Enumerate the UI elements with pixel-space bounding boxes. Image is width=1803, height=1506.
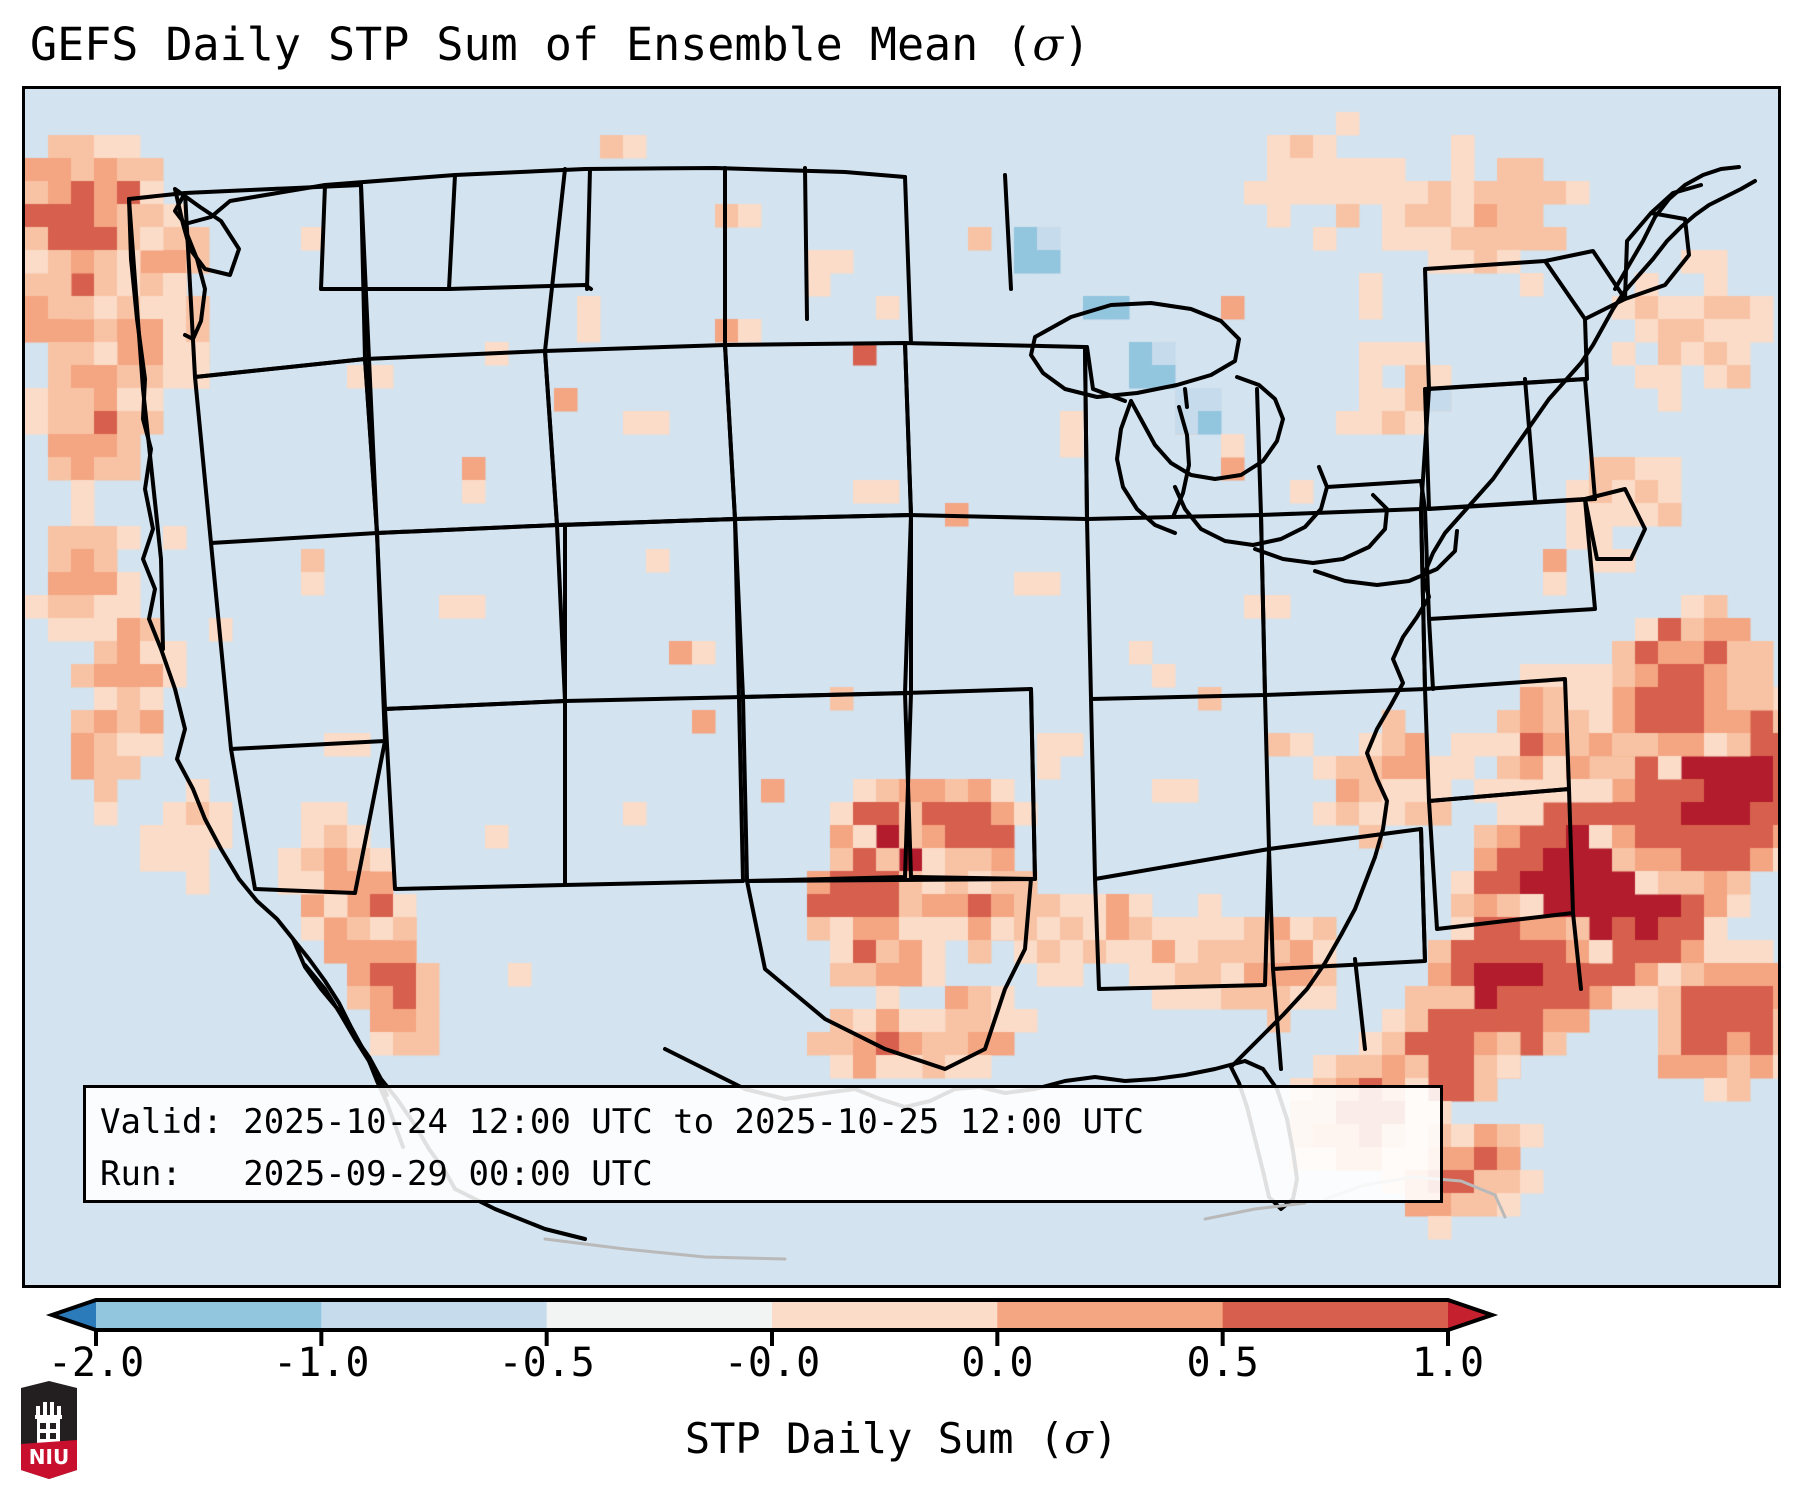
geo-outline-69 [1185,389,1187,407]
geo-outline-75 [1005,175,1011,289]
title-sigma-symbol: σ [1032,18,1063,71]
geo-outline-77 [449,285,591,289]
geo-outline-35 [905,343,1087,519]
geo-outline-48 [1265,695,1269,849]
geo-outline-33 [565,697,743,701]
geo-outline-light-2 [1205,1203,1305,1219]
niu-logo: NIU [16,1378,82,1482]
geo-outline-73 [587,169,590,289]
page-title: GEFS Daily STP Sum of Ensemble Mean (σ) [30,16,1090,74]
geo-outline-34 [735,515,911,697]
geo-outline-58 [1425,499,1595,619]
colorbar-under-arrow [52,1300,96,1330]
colorbar-segment [1223,1300,1449,1330]
colorbar-axis-label: STP Daily Sum (σ) [0,1414,1803,1463]
geo-outline-14 [1175,467,1327,545]
colorbar-tick-label: -0.0 [724,1340,820,1386]
geo-outline-70 [1257,389,1261,515]
geo-outline-56 [1429,789,1573,929]
geo-outline-52 [1421,829,1425,961]
colorbar-tick-label: -1.0 [273,1340,369,1386]
geo-outline-22 [195,359,377,543]
geo-outline-59 [1429,619,1433,689]
title-suffix: ) [1063,18,1090,71]
colorbar-segment [96,1300,322,1330]
colorbar-tick-label: 1.0 [1412,1340,1484,1386]
geo-outline-39 [1085,347,1087,519]
colorbar-segment [772,1300,998,1330]
geo-outline-38 [545,169,565,351]
geo-outline-29 [725,343,911,519]
geo-outline-67 [1651,185,1701,213]
geo-outline-71 [1327,481,1421,487]
title-prefix: GEFS Daily STP Sum of Ensemble Mean ( [30,18,1032,71]
colorbar-segment [321,1300,547,1330]
figure-root: GEFS Daily STP Sum of Ensemble Mean (σ) … [0,0,1803,1506]
colorbar-segment [997,1300,1223,1330]
geo-outline-74 [805,168,807,319]
geo-outline-9 [1231,259,1653,1067]
forecast-info-box: Valid: 2025-10-24 12:00 UTC to 2025-10-2… [83,1085,1443,1203]
geo-outline-55 [1425,679,1569,801]
valid-time-line: Valid: 2025-10-24 12:00 UTC to 2025-10-2… [100,1096,1426,1148]
geo-outline-42 [747,879,1031,1069]
geo-outline-63 [1525,379,1535,499]
run-time-line: Run: 2025-09-29 00:00 UTC [100,1148,1426,1200]
geo-outline-20 [161,559,163,649]
colorbar-tick-label: 0.5 [1187,1340,1259,1386]
geo-outline-24 [377,525,565,709]
geo-outline-50 [1095,849,1269,989]
colorbar-over-arrow [1448,1300,1492,1330]
geo-outline-41 [905,689,1035,879]
geo-outline-36 [905,177,911,343]
cbar-label-prefix: STP Daily Sum ( [685,1414,1064,1463]
geo-outline-40 [743,693,911,881]
geo-outline-12 [1031,303,1239,397]
colorbar-tick-label: 0.0 [961,1340,1033,1386]
logo-text: NIU [29,1445,69,1469]
geo-outline-64 [1425,261,1587,389]
geo-outline-10 [1653,181,1755,259]
cbar-label-suffix: ) [1093,1414,1118,1463]
geo-outline-30 [385,701,565,889]
geo-outline-54 [1355,959,1365,1049]
geo-outline-46 [1031,689,1035,879]
state-and-coast-outlines [129,167,1755,1239]
geo-outline-25 [211,533,385,749]
geo-outline-27 [365,351,557,533]
colorbar-segment [547,1300,773,1330]
geo-outline-76 [449,175,455,289]
geo-outline-28 [545,345,735,525]
colorbar-tick-labels: -2.0-1.0-0.5-0.00.00.51.0 [0,1340,1803,1400]
cbar-label-sigma: σ [1064,1414,1093,1463]
geo-outline-47 [1091,699,1095,879]
geo-outline-17 [1117,401,1175,533]
colorbar-tick-label: -0.5 [498,1340,594,1386]
geo-outline-51 [1269,829,1425,969]
colorbar-area: -2.0-1.0-0.5-0.00.00.51.0 STP Daily Sum … [0,1296,1803,1506]
map-panel[interactable]: Valid: 2025-10-24 12:00 UTC to 2025-10-2… [22,86,1781,1288]
geo-outline-3 [129,199,455,1189]
geo-outline-light-0 [545,1239,785,1259]
geo-outline-61 [1425,379,1595,509]
geo-outline-78 [321,185,449,289]
geo-outline-26 [231,741,385,893]
geo-outline-0 [129,168,905,224]
geo-outline-18 [1173,407,1189,517]
geo-outline-57 [1573,913,1581,989]
